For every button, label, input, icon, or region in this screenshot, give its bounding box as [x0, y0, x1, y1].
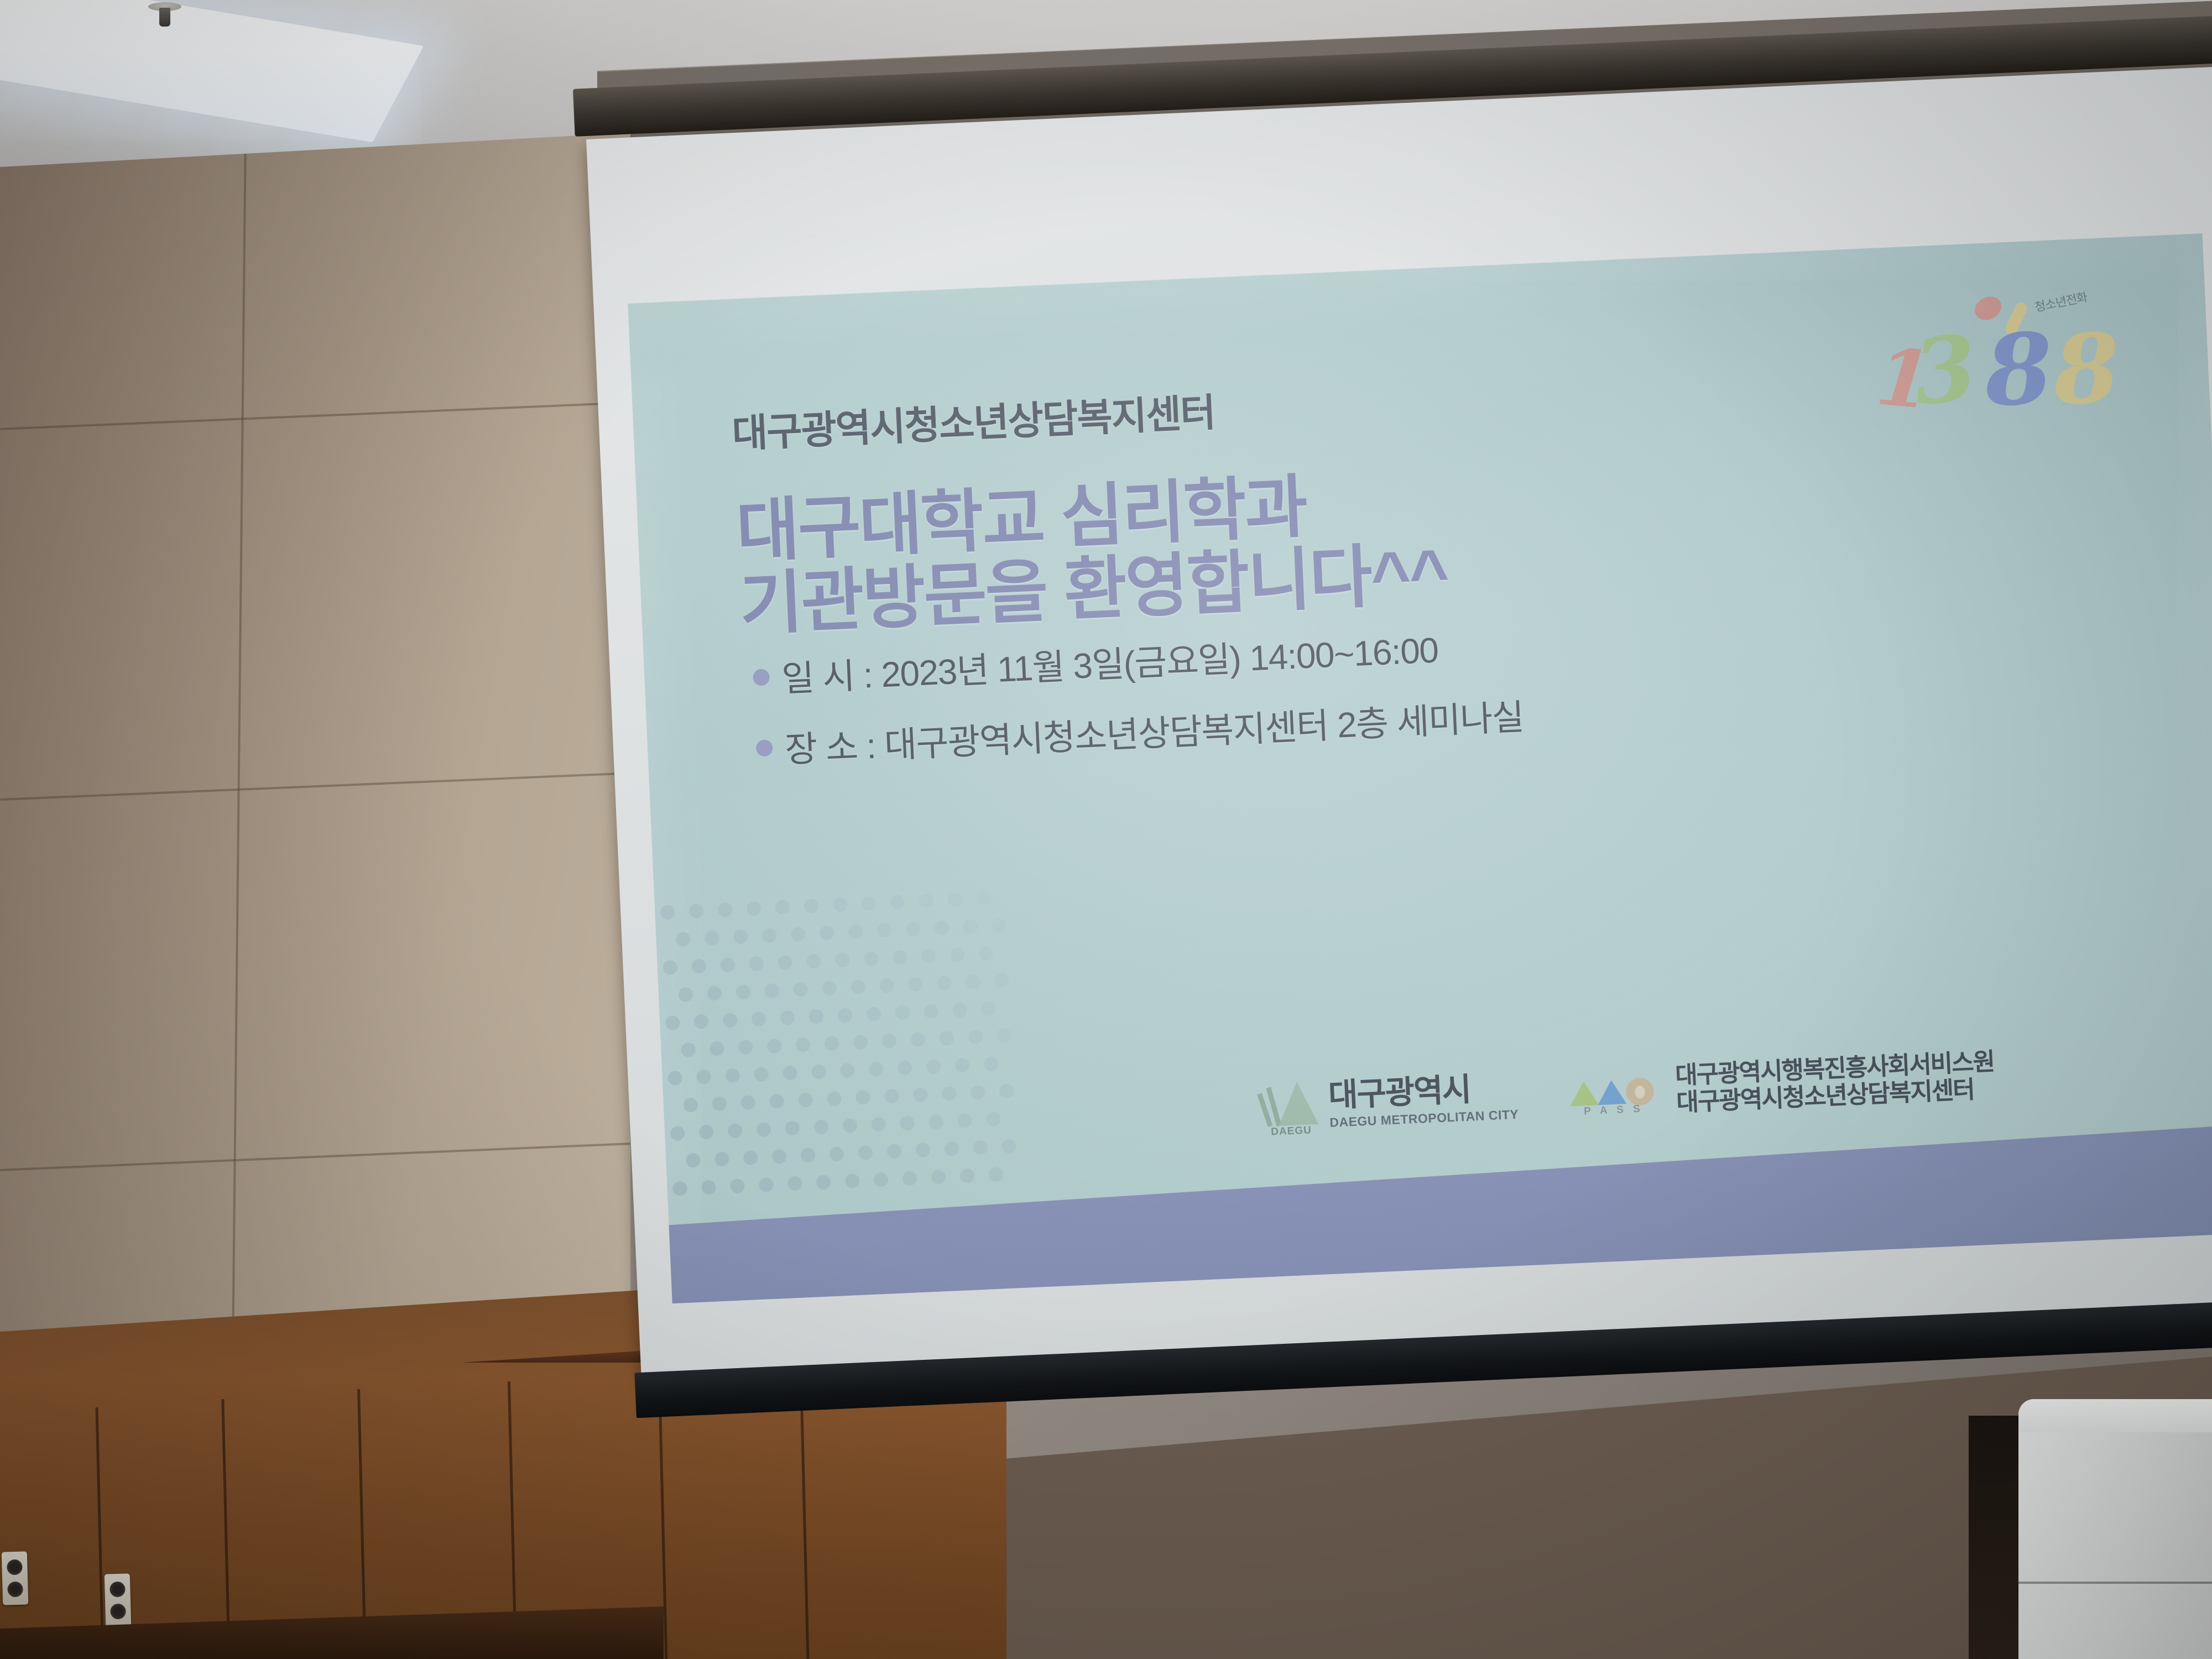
pass-chevron-icon: P A S S	[1568, 1065, 1667, 1120]
slide-kicker: 대구광역시청소년상담복지센터	[731, 382, 1215, 459]
logo-pass-welfare-center: P A S S 대구광역시행복진흥사회서비스원 대구광역시청소년상담복지센터	[1567, 1048, 1996, 1121]
logo-1388-digit-3: 3	[1909, 315, 1981, 426]
daegu-wordmark: 대구광역시 DAEGU METROPOLITAN CITY	[1328, 1072, 1519, 1130]
logo-1388-digit-8-first: 8	[1983, 311, 2056, 429]
slide-detail-list: 일 시 : 2023년 11월 3일(금요일) 14:00~16:00 장 소 …	[752, 618, 1526, 794]
screen-surface: 대구광역시청소년상담복지센터 대구대학교 심리학과 기관방문을 환영합니다^^ …	[586, 66, 2212, 1379]
detail-location: 장 소 : 대구광역시청소년상담복지센터 2층 세미나실	[784, 689, 1525, 773]
projection-screen: 대구광역시청소년상담복지센터 대구대학교 심리학과 기관방문을 환영합니다^^ …	[586, 66, 2212, 1426]
logo-1388-digit-8-second: 8	[2051, 311, 2122, 426]
pass-wordmark: 대구광역시행복진흥사회서비스원 대구광역시청소년상담복지센터	[1674, 1048, 1996, 1117]
daegu-korean-name: 대구광역시	[1328, 1072, 1518, 1112]
fire-sprinkler-icon	[148, 2, 181, 31]
slide-footer-logos: DAEGU 대구광역시 DAEGU METROPOLITAN CITY P A …	[1260, 1048, 1996, 1135]
bullet-dot-icon	[756, 739, 773, 757]
decorative-dot-pattern	[660, 890, 1029, 1237]
white-cabinet	[2018, 1399, 2212, 1659]
list-item: 장 소 : 대구광역시청소년상담복지센터 2층 세미나실	[755, 689, 1524, 774]
daegu-mark-caption: DAEGU	[1262, 1124, 1321, 1139]
presentation-slide: 대구광역시청소년상담복지센터 대구대학교 심리학과 기관방문을 환영합니다^^ …	[628, 233, 2212, 1303]
photo-scene: 대구광역시청소년상담복지센터 대구대학교 심리학과 기관방문을 환영합니다^^ …	[0, 0, 2212, 1659]
logo-daegu-metropolitan-city: DAEGU 대구광역시 DAEGU METROPOLITAN CITY	[1260, 1070, 1519, 1135]
wall-power-outlet	[2, 1551, 28, 1605]
bullet-dot-icon	[753, 669, 770, 686]
logo-1388: 청소년전화 1 3 8 8	[1867, 282, 2133, 421]
side-wall-acoustic-panels	[0, 133, 630, 1405]
logo-1388-tagline: 청소년전화	[2033, 277, 2140, 315]
wall-power-outlet	[105, 1573, 131, 1627]
daegu-mountain-icon: DAEGU	[1260, 1079, 1320, 1135]
